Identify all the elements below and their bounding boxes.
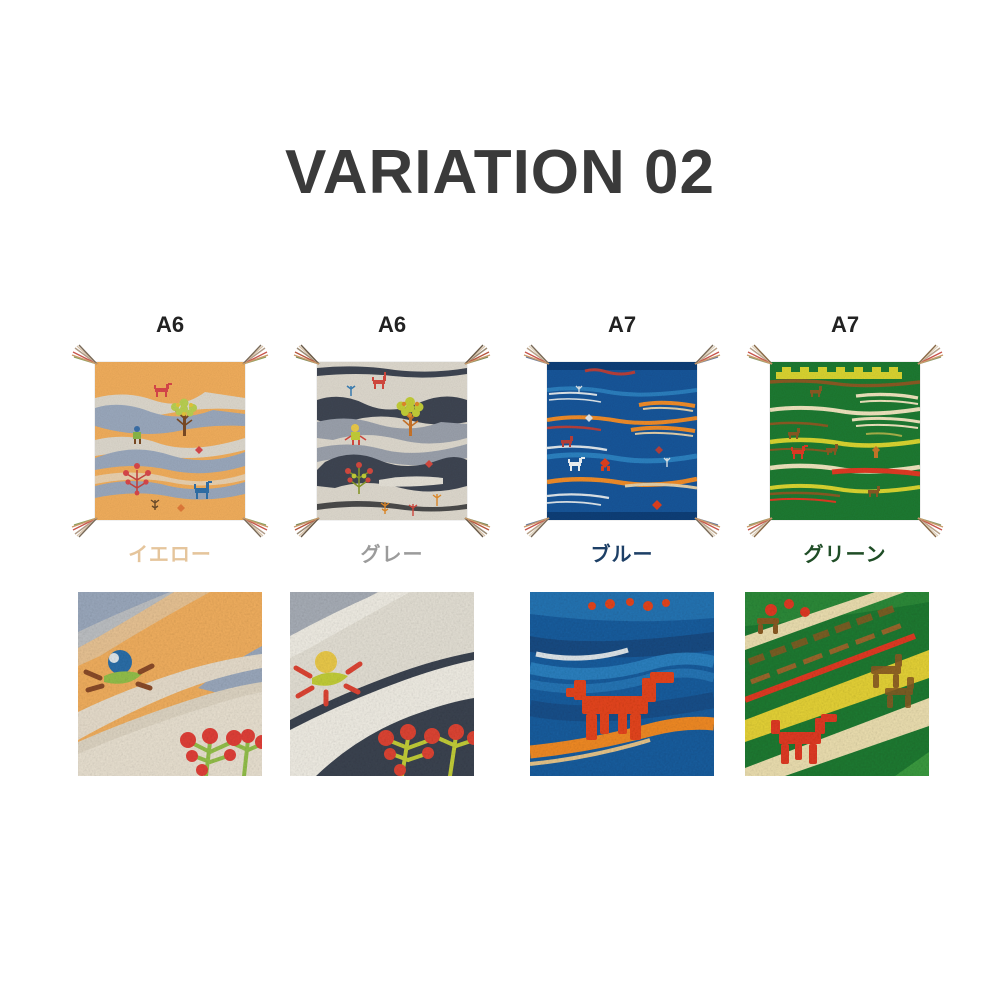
detail-swatch-gray[interactable] xyxy=(290,592,474,776)
rug-cell-green[interactable] xyxy=(735,340,955,550)
detail-swatch-blue[interactable] xyxy=(530,592,714,776)
tassel-bottom-right xyxy=(693,516,723,538)
tassel-top-right xyxy=(463,344,493,366)
rug-image-green[interactable] xyxy=(770,362,920,520)
rug-image-blue[interactable] xyxy=(547,362,697,520)
tassel-bottom-right xyxy=(241,516,271,538)
rug-cell-gray[interactable] xyxy=(282,340,502,550)
product-code-3: A7 xyxy=(765,312,925,338)
tassel-top-right xyxy=(693,344,723,366)
detail-swatch-green[interactable] xyxy=(745,592,929,776)
rug-cell-yellow[interactable] xyxy=(60,340,280,550)
detail-swatch-row xyxy=(0,592,1000,776)
product-code-2: A7 xyxy=(542,312,702,338)
tassel-bottom-right xyxy=(463,516,493,538)
rug-cell-blue[interactable] xyxy=(512,340,732,550)
rug-pile-yellow xyxy=(95,362,245,520)
tassel-top-right xyxy=(916,344,946,366)
product-code-row: A6 A6 A7 A7 xyxy=(0,312,1000,342)
rug-thumbnail-row xyxy=(0,340,1000,550)
page-title: VARIATION 02 xyxy=(0,137,1000,208)
rug-pile-blue xyxy=(547,362,697,520)
rug-pile-gray xyxy=(317,362,467,520)
variation-page: VARIATION 02 A6 A6 A7 A7 xyxy=(0,0,1000,1000)
color-name-row: イエロー グレー ブルー グリーン xyxy=(0,538,1000,568)
tassel-bottom-right xyxy=(916,516,946,538)
tassel-top-right xyxy=(241,344,271,366)
rug-image-yellow[interactable] xyxy=(95,362,245,520)
rug-image-gray[interactable] xyxy=(317,362,467,520)
product-code-1: A6 xyxy=(312,312,472,338)
rug-pile-green xyxy=(770,362,920,520)
color-name-yellow: イエロー xyxy=(60,538,280,567)
color-name-gray: グレー xyxy=(282,538,502,567)
detail-swatch-yellow[interactable] xyxy=(78,592,262,776)
color-name-blue: ブルー xyxy=(512,538,732,567)
product-code-0: A6 xyxy=(90,312,250,338)
color-name-green: グリーン xyxy=(735,538,955,567)
